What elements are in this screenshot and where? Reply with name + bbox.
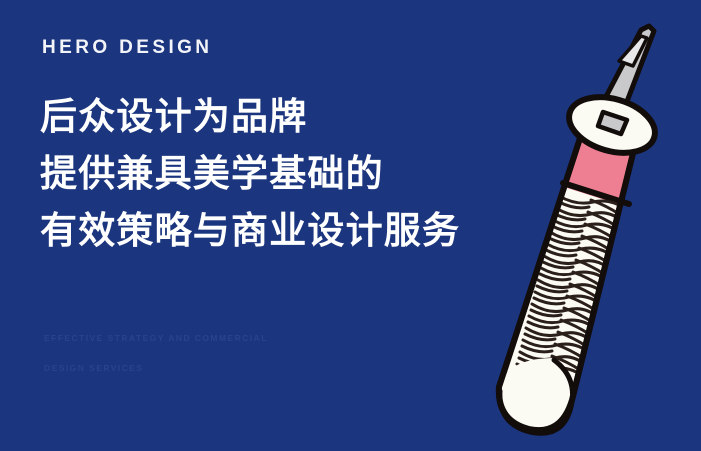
blade-icon xyxy=(599,26,654,117)
subtext-line-2: DESIGN SERVICES xyxy=(44,364,344,373)
handle-end-cap-edge xyxy=(500,360,573,433)
headline-line-1: 后众设计为品牌 xyxy=(40,98,560,135)
headline-block: 后众设计为品牌 提供兼具美学基础的 有效策略与商业设计服务 xyxy=(40,98,560,249)
pink-band xyxy=(561,112,647,207)
ferrule-collar xyxy=(563,88,662,162)
headline-line-3: 有效策略与商业设计服务 xyxy=(40,212,560,249)
subtext-block: EFFECTIVE STRATEGY AND COMMERCIAL DESIGN… xyxy=(44,334,344,372)
subtext-line-1: EFFECTIVE STRATEGY AND COMMERCIAL xyxy=(44,334,344,343)
pink-band-lower-edge xyxy=(563,183,629,204)
handle-end-cap xyxy=(500,358,573,434)
blade-highlight-icon xyxy=(619,36,647,66)
poster-canvas: HERO DESIGN 后众设计为品牌 提供兼具美学基础的 有效策略与商业设计服… xyxy=(0,0,701,451)
brand-eyebrow: HERO DESIGN xyxy=(42,38,212,57)
knife-blade-group xyxy=(599,26,654,117)
headline-line-2: 提供兼具美学基础的 xyxy=(40,155,560,192)
